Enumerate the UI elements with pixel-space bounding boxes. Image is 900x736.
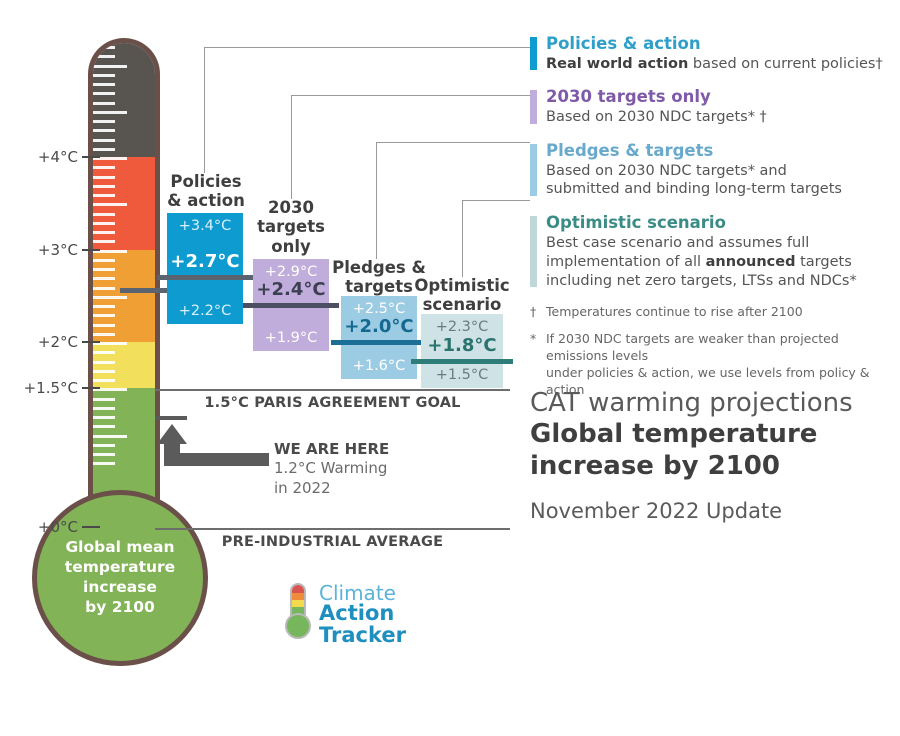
we-are-here-arrowhead <box>157 424 187 444</box>
thermometer-tick <box>93 176 115 179</box>
scenario-upper-value-pledges: +2.5°C <box>341 301 417 317</box>
legend-title: Policies & action <box>546 34 890 55</box>
thermometer-tick <box>93 166 115 169</box>
thermometer-tick <box>93 453 115 456</box>
thermometer-tick <box>93 213 115 216</box>
scenario-central-value-optimistic: +1.8°C <box>421 335 503 356</box>
thermometer-scale-tickmark <box>82 249 100 251</box>
legend-item-3[interactable]: Optimistic scenarioBest case scenario an… <box>530 213 890 290</box>
legend-item-1[interactable]: 2030 targets onlyBased on 2030 NDC targe… <box>530 87 890 126</box>
logo-line-climate: Climate <box>319 583 406 603</box>
thermometer-tick <box>93 444 115 447</box>
legend-title: Optimistic scenario <box>546 213 890 234</box>
paris-goal-caption: 1.5°C PARIS AGREEMENT GOAL <box>155 395 510 411</box>
we-are-here-detail-line2: in 2022 <box>274 478 387 498</box>
thermometer-tick <box>93 425 115 428</box>
logo-thermometer-bulb <box>285 613 311 639</box>
legend-connector-tick <box>520 200 529 201</box>
thermometer-tick <box>93 65 127 68</box>
climate-action-tracker-logo[interactable]: Climate Action Tracker <box>283 583 463 645</box>
logo-line-tracker: Tracker <box>319 625 406 646</box>
we-are-here-arrow-base <box>164 453 269 466</box>
scenario-lower-value-targets2030: +1.9°C <box>253 330 329 346</box>
thermometer-tick <box>93 92 115 95</box>
thermometer-tick <box>93 296 127 299</box>
scenario-title-line: targets <box>251 217 331 236</box>
legend-connector-tick <box>520 95 529 96</box>
thermometer-tick <box>93 351 115 354</box>
scenario-central-line-pledges <box>331 340 427 345</box>
title-line-1: CAT warming projections <box>530 388 900 419</box>
scenario-central-line-targets2030 <box>243 303 339 308</box>
scenario-title-policies: Policies& action <box>160 172 252 211</box>
logo-wordmark: Climate Action Tracker <box>319 583 406 646</box>
scenario-lower-value-optimistic: +1.5°C <box>421 367 503 383</box>
thermometer-tick <box>93 139 115 142</box>
thermometer-bulb-label: Global meantemperatureincreaseby 2100 <box>32 490 208 666</box>
thermometer-tick <box>93 102 115 105</box>
thermometer-tick <box>93 407 115 410</box>
legend-swatch <box>530 37 537 70</box>
thermometer: Global meantemperatureincreaseby 2100 <box>32 38 208 678</box>
legend-swatch <box>530 144 537 196</box>
scenario-title-line: & action <box>160 191 252 210</box>
thermometer-tick <box>93 314 115 317</box>
title-line-3: increase by 2100 <box>530 451 900 483</box>
legend-description: Best case scenario and assumes fullimple… <box>546 234 890 291</box>
thermometer-tick <box>93 305 115 308</box>
scenario-title-line: Optimistic <box>410 276 514 295</box>
legend: Policies & actionReal world action based… <box>530 34 890 399</box>
thermometer-tick <box>93 111 127 114</box>
thermometer-tick <box>93 416 115 419</box>
thermometer-tick <box>93 46 115 49</box>
legend-swatch <box>530 216 537 287</box>
scenario-title-line: Pledges & <box>329 258 429 277</box>
scenario-central-value-policies: +2.7°C <box>167 251 243 272</box>
title-line-2: Global temperature <box>530 419 900 451</box>
legend-description: Based on 2030 NDC targets* † <box>546 108 890 127</box>
we-are-here-title: WE ARE HERE <box>274 440 389 458</box>
thermometer-scale-label: +4°C <box>18 148 78 166</box>
title-block: CAT warming projections Global temperatu… <box>530 388 900 523</box>
thermometer-tick <box>93 83 115 86</box>
legend-connector-tick <box>520 47 529 48</box>
we-are-here-tick <box>155 416 187 420</box>
thermometer-scale-label: +3°C <box>18 241 78 259</box>
scenario-upper-value-targets2030: +2.9°C <box>253 264 329 280</box>
thermometer-tick <box>93 435 127 438</box>
paris-goal-line <box>155 389 510 391</box>
scenario-central-line-policies <box>157 275 253 280</box>
thermometer-tick <box>93 231 115 234</box>
scenario-upper-value-optimistic: +2.3°C <box>421 319 503 335</box>
thermometer-scale-label: +1.5°C <box>18 379 78 397</box>
thermometer-tick <box>93 277 115 280</box>
pre-industrial-line <box>155 528 510 530</box>
thermometer-tick <box>93 120 115 123</box>
thermometer-tick <box>93 194 115 197</box>
legend-connector-3 <box>462 200 530 277</box>
thermometer-tick <box>93 203 127 206</box>
we-are-here-detail-line1: 1.2°C Warming <box>274 458 387 478</box>
scenario-title-line: 2030 <box>251 198 331 217</box>
thermometer-scale-tickmark <box>82 341 100 343</box>
thermometer-tick <box>93 370 115 373</box>
logo-thermometer-icon <box>283 583 313 645</box>
logo-line-action: Action <box>319 603 406 624</box>
thermometer-tick <box>93 129 115 132</box>
title-subtitle: November 2022 Update <box>530 499 900 523</box>
legend-title: Pledges & targets <box>546 141 890 162</box>
thermometer-tick <box>93 361 115 364</box>
thermometer-scale-tickmark <box>82 156 100 158</box>
scenario-central-value-pledges: +2.0°C <box>341 316 417 337</box>
scenario-title-optimistic: Optimisticscenario <box>410 276 514 315</box>
thermometer-tick <box>93 462 115 465</box>
legend-item-0[interactable]: Policies & actionReal world action based… <box>530 34 890 73</box>
scenario-title-line: only <box>251 237 331 256</box>
scenario-range-bar-pledges: +2.5°C+1.6°C <box>341 296 417 379</box>
footnote-symbol: * <box>530 331 536 348</box>
thermometer-scale-label: +2°C <box>18 333 78 351</box>
thermometer-tick <box>93 379 115 382</box>
thermometer-tick <box>93 74 115 77</box>
legend-footnote-0: †Temperatures continue to rise after 210… <box>530 304 890 321</box>
scenario-central-value-targets2030: +2.4°C <box>253 279 329 300</box>
scenario-title-targets2030: 2030targetsonly <box>251 198 331 256</box>
scenario-central-line-optimistic <box>411 359 513 364</box>
thermometer-scale-tickmark <box>82 387 100 389</box>
thermometer-tick <box>93 55 115 58</box>
footnote-symbol: † <box>530 304 536 321</box>
thermometer-tick <box>93 398 115 401</box>
thermometer-tick <box>93 259 115 262</box>
legend-description: Real world action based on current polic… <box>546 55 890 74</box>
scenario-title-line: scenario <box>410 295 514 314</box>
infographic-root: Global meantemperatureincreaseby 2100 +4… <box>0 0 900 736</box>
thermometer-tick <box>93 148 115 151</box>
scenario-title-line: Policies <box>160 172 252 191</box>
thermometer-tick <box>93 333 115 336</box>
scenario-lower-value-policies: +2.2°C <box>167 303 243 319</box>
legend-title: 2030 targets only <box>546 87 890 108</box>
scenario-lower-value-pledges: +1.6°C <box>341 358 417 374</box>
thermometer-tick <box>93 222 115 225</box>
thermometer-tick <box>93 268 115 271</box>
thermometer-tick <box>93 185 115 188</box>
legend-item-2[interactable]: Pledges & targetsBased on 2030 NDC targe… <box>530 141 890 199</box>
legend-description: Based on 2030 NDC targets* andsubmitted … <box>546 162 890 200</box>
thermometer-tick <box>93 324 115 327</box>
scenario-upper-value-policies: +3.4°C <box>167 218 243 234</box>
thermometer-tick <box>93 240 115 243</box>
pre-industrial-caption: PRE-INDUSTRIAL AVERAGE <box>155 534 510 550</box>
legend-connector-tick <box>520 142 529 143</box>
we-are-here-detail: 1.2°C Warming in 2022 <box>274 458 387 499</box>
thermometer-tick <box>93 287 115 290</box>
legend-swatch <box>530 90 537 123</box>
